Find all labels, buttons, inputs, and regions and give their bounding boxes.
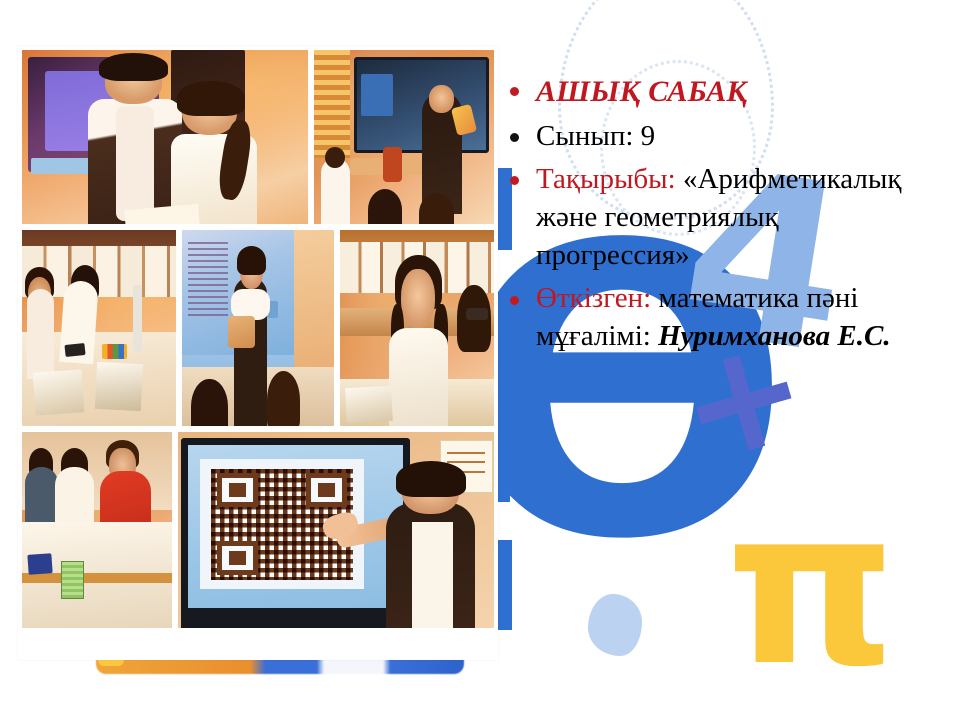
pi-glyph-icon: π <box>726 480 896 695</box>
photo-student-at-desk <box>340 230 494 426</box>
photo-group-desk-work <box>22 230 176 426</box>
collage-row <box>22 50 494 224</box>
bullet-grade: Сынып: 9 <box>502 118 922 156</box>
bullet-list: АШЫҚ САБАҚ Сынып: 9 Тақырыбы: «Арифметик… <box>502 72 922 356</box>
slide-canvas: Ө 4 + π <box>0 0 960 720</box>
teacher-name: Нуримханова Е.С. <box>658 320 890 352</box>
photo-observers-writing <box>22 432 172 628</box>
photo-teacher-at-smartboard <box>314 50 494 224</box>
blue-blob-shape <box>588 594 642 656</box>
photo-collage <box>18 46 498 660</box>
photo-teacher-with-projector <box>182 230 333 426</box>
collage-row <box>22 230 494 426</box>
photo-teacher-helping-student <box>22 50 308 224</box>
topic-label: Тақырыбы: <box>536 163 676 195</box>
slide-text-block: АШЫҚ САБАҚ Сынып: 9 Тақырыбы: «Арифметик… <box>502 72 922 362</box>
bullet-teacher: Өткізген: математика пәні мұғалімі: Нури… <box>502 280 922 355</box>
grade-text: Сынып: 9 <box>536 120 655 152</box>
teacher-label: Өткізген: <box>536 282 651 314</box>
bullet-open-lesson: АШЫҚ САБАҚ <box>502 72 922 112</box>
photo-qr-code-board <box>178 432 494 628</box>
open-lesson-title: АШЫҚ САБАҚ <box>536 75 747 108</box>
collage-row <box>22 432 494 628</box>
bullet-topic: Тақырыбы: «Арифметикалық және геометриял… <box>502 161 922 274</box>
